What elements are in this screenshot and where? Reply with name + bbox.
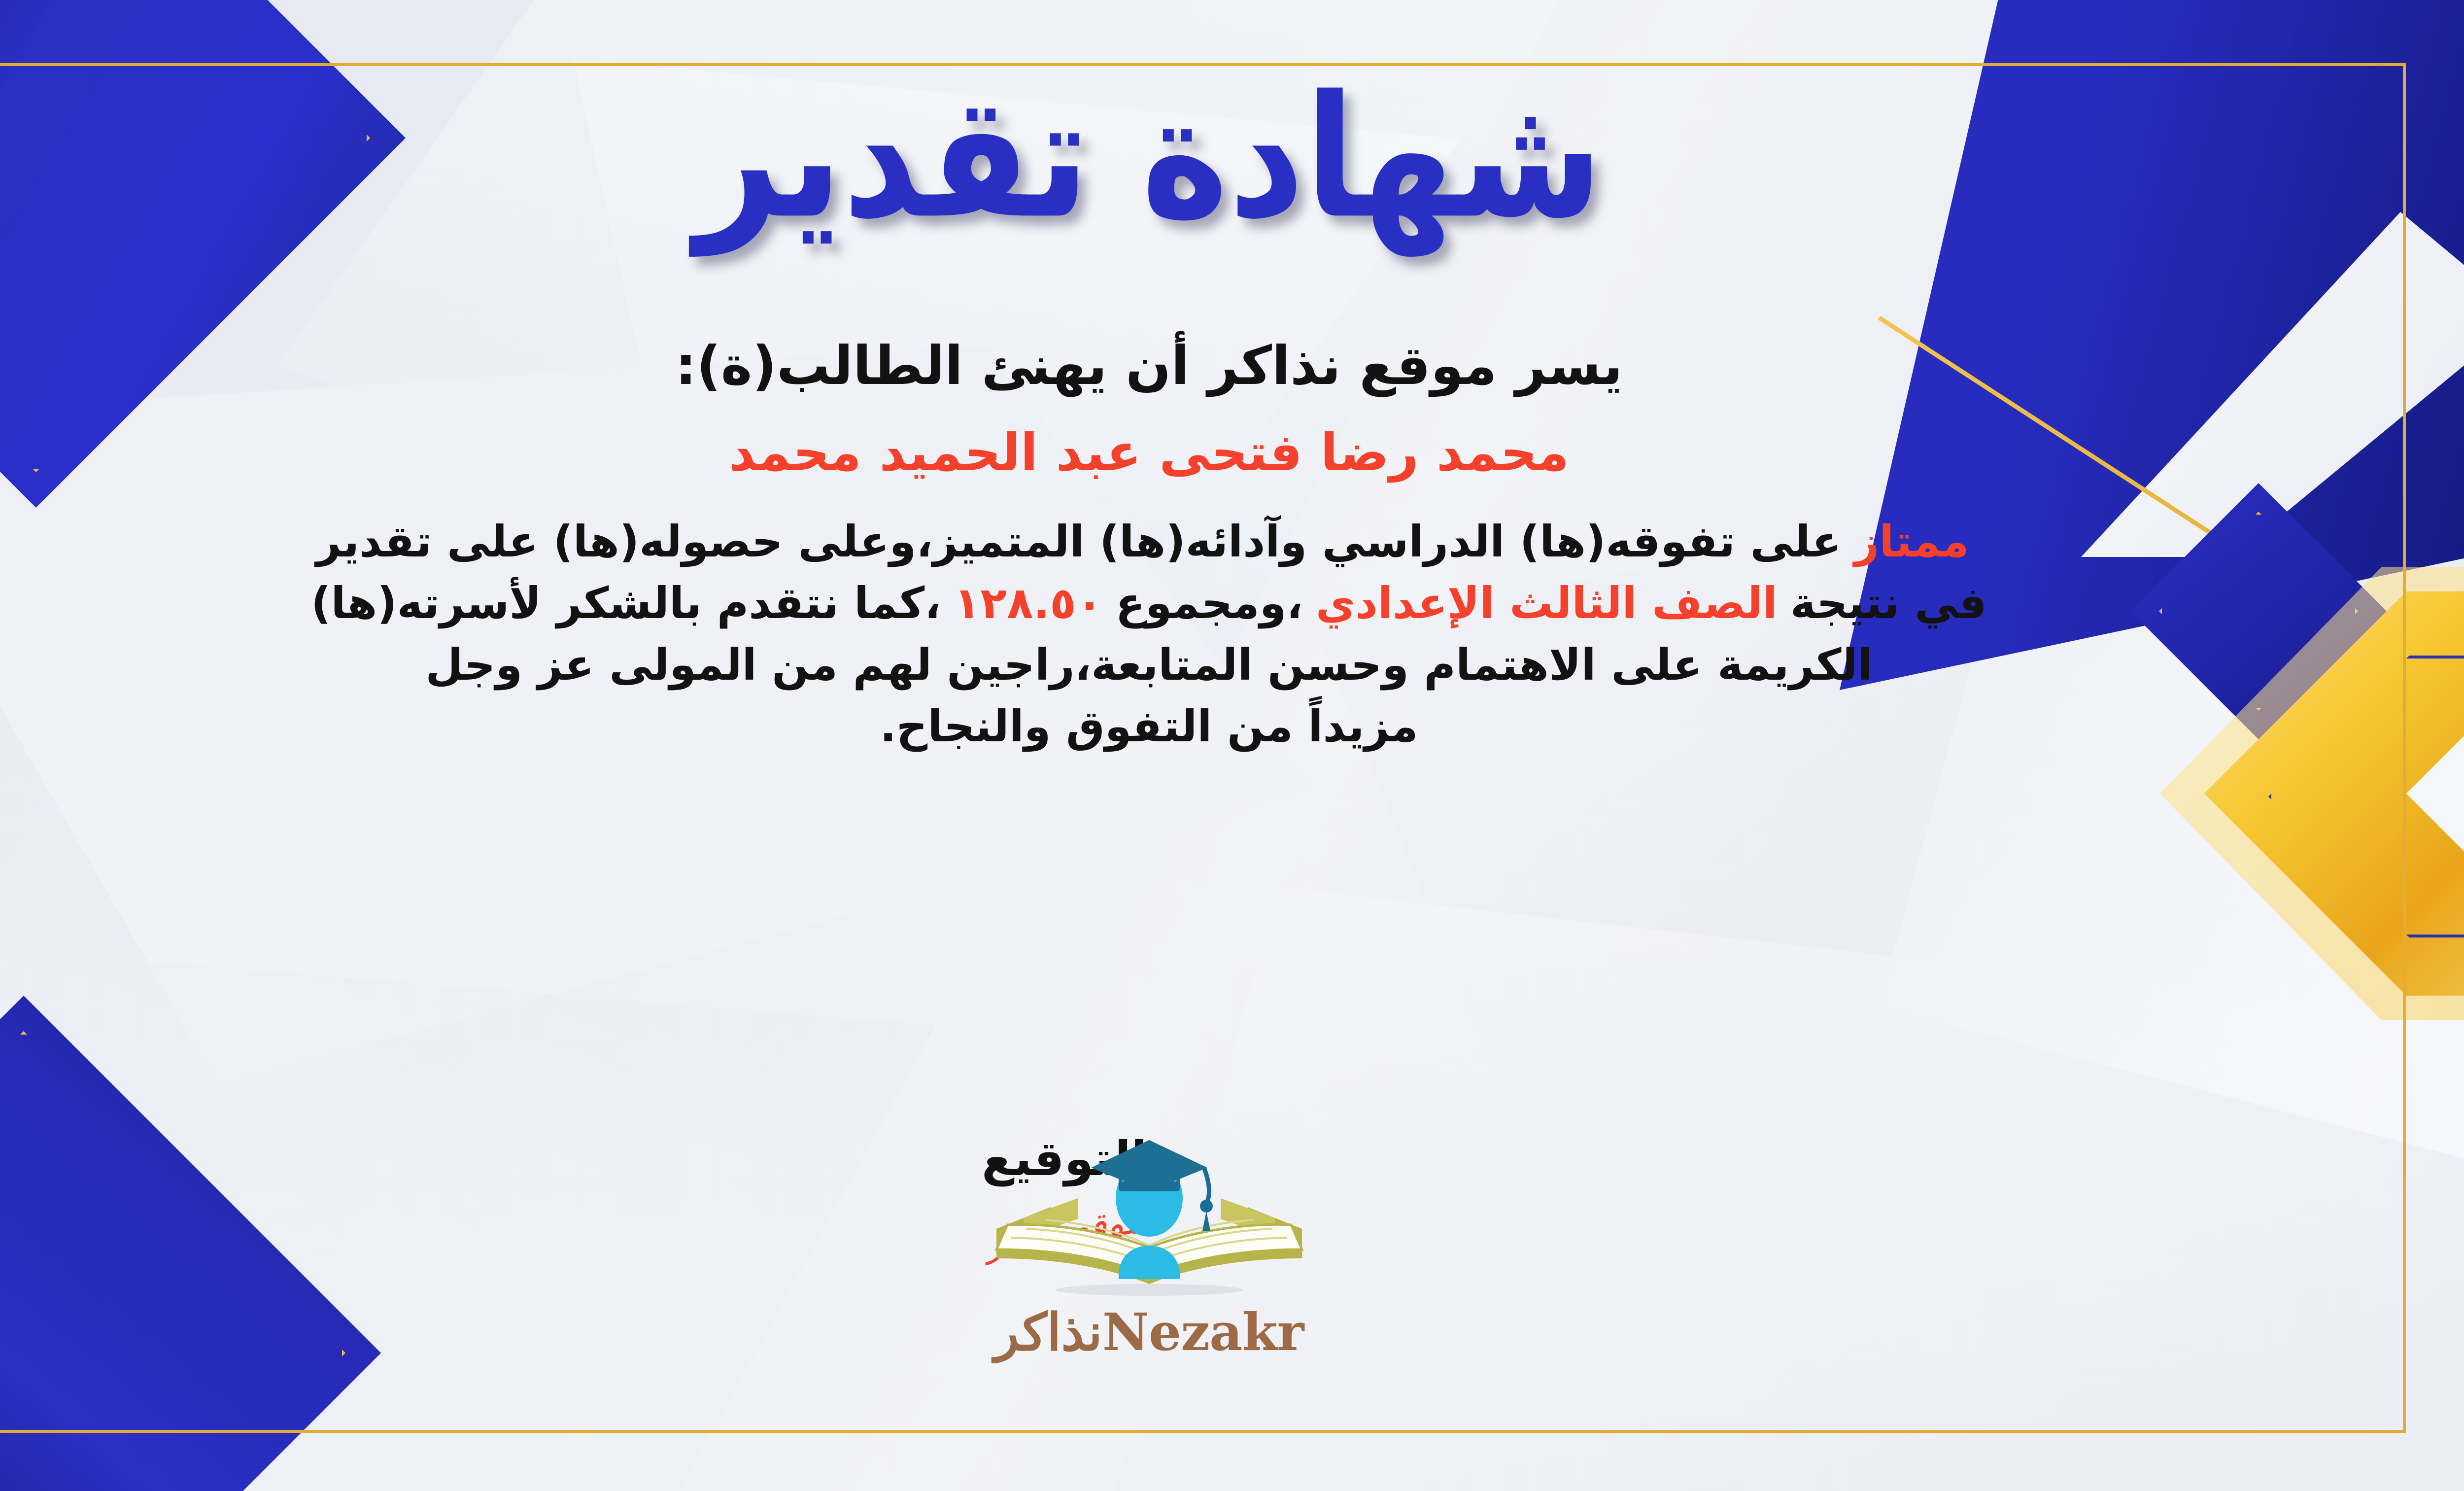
body-line-3: الكريمة على الاهتمام وحسن المتابعة،راجين… — [16, 634, 2283, 696]
body-line-1-text: على تفوقه(ها) الدراسي وآدائه(ها) المتميز… — [316, 516, 1841, 567]
body-line-4: مزيداً من التفوق والنجاح. — [16, 696, 2283, 758]
body-line-2: في نتيجةالصف الثالث الإعدادي،ومجموع١٢٨.٥… — [16, 573, 2283, 634]
certificate-canvas: شهادة تقدير يسر موقع نذاكر أن يهنئ الطال… — [0, 0, 2464, 1491]
certificate-footer: التوقيع موقع نذاكر — [0, 1102, 2351, 1417]
body-line-1: ممتازعلى تفوقه(ها) الدراسي وآدائه(ها) ال… — [16, 511, 2283, 573]
logo-wordmark: Nezakrنذاكر — [962, 1302, 1336, 1362]
student-name: محمد رضا فتحى عبد الحميد محمد — [729, 422, 1569, 483]
certificate-title: شهادة تقدير — [695, 73, 1603, 242]
logo-wordmark-latin: Nezakr — [1102, 1302, 1304, 1362]
total-score: ١٢٨.٥٠ — [941, 578, 1116, 628]
stage-name: الصف الثالث الإعدادي — [1303, 578, 1790, 628]
site-logo: Nezakrنذاكر — [962, 1102, 1336, 1362]
greeting-line: يسر موقع نذاكر أن يهنئ الطالب(ة): — [675, 335, 1623, 397]
body-line-2-mid: ،ومجموع — [1116, 578, 1303, 628]
logo-wordmark-arabic: نذاكر — [994, 1302, 1102, 1362]
graduate-book-icon — [977, 1102, 1322, 1299]
certificate-body: ممتازعلى تفوقه(ها) الدراسي وآدائه(ها) ال… — [16, 511, 2283, 758]
body-line-2-prefix: في نتيجة — [1790, 578, 1987, 628]
grade-word: ممتاز — [1842, 516, 1982, 567]
body-line-2-suffix: ،كما نتقدم بالشكر لأسرته(ها) — [311, 578, 941, 628]
